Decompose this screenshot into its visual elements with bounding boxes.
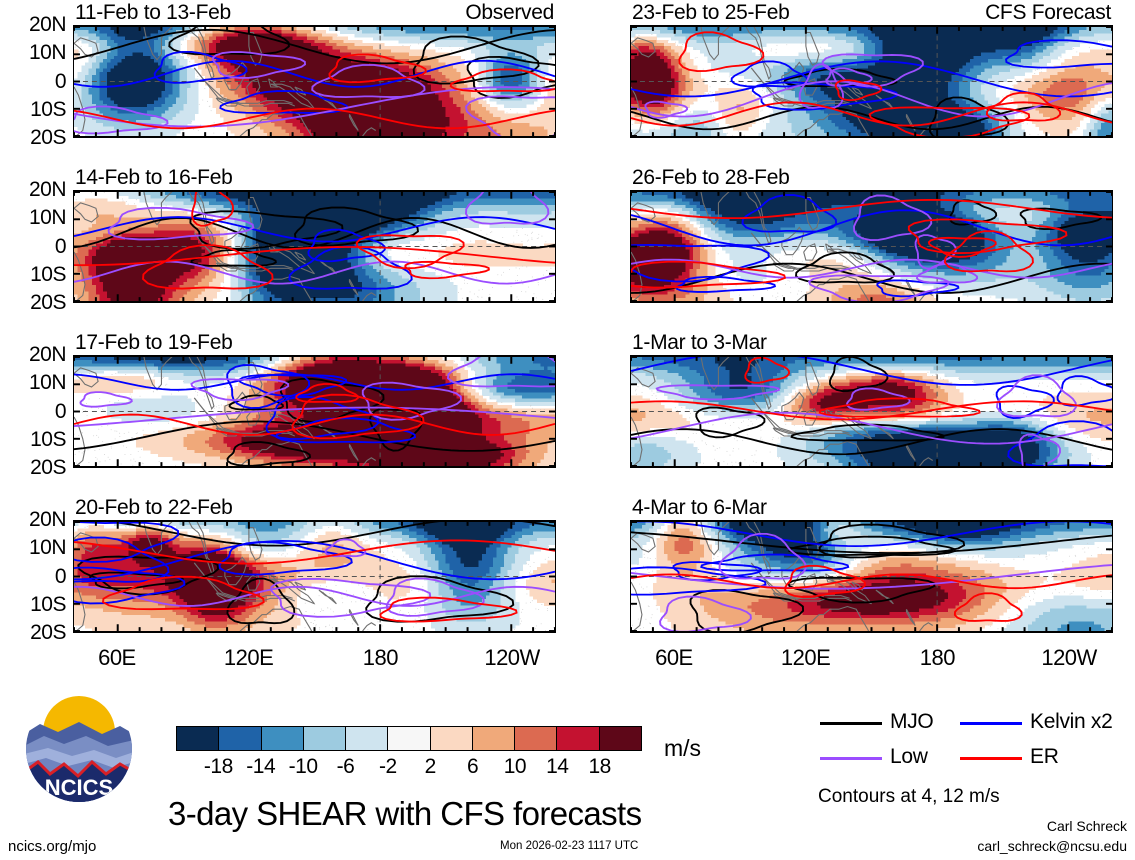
colorbar-swatch [600,727,641,750]
colorbar-tick: 18 [588,755,610,779]
x-axis-label: 180 [920,645,955,671]
logo-text: NCICS [45,775,113,800]
panel-title: 17-Feb to 19-Feb [75,331,232,355]
panel-title: 14-Feb to 16-Feb [75,166,232,190]
panel-title: 23-Feb to 25-Feb [632,1,789,25]
panel-title: 26-Feb to 28-Feb [632,166,789,190]
colorbar-tick: 6 [467,755,478,779]
y-axis-label: 10N [4,536,66,560]
plot-area [73,190,556,303]
y-axis-label: 10S [4,263,66,287]
legend-line-swatch [960,722,1022,725]
colorbar-swatches [176,726,642,751]
y-axis-label: 20S [4,456,66,480]
map-panel-forecast-2: 26-Feb to 28-Feb [630,190,1113,303]
contour-note: Contours at 4, 12 m/s [818,786,1000,808]
plot-area [73,520,556,633]
map-panel-observed-2: 14-Feb to 16-Feb20N10N010S20S [73,190,556,303]
ncics-logo: NCICS [24,694,134,804]
y-axis-label: 10S [4,428,66,452]
site-url: ncics.org/mjo [8,838,96,855]
map-panel-observed-3: 17-Feb to 19-Feb20N10N010S20S [73,355,556,468]
plot-area [630,520,1113,633]
plot-area [630,25,1113,138]
x-axis-label: 60E [98,645,136,671]
y-axis-label: 0 [4,400,66,424]
colorbar-tick: -2 [379,755,397,779]
x-axis-label: 60E [655,645,693,671]
x-axis-label: 180 [363,645,398,671]
colorbar-swatch [346,727,388,750]
legend-line-swatch [960,757,1022,760]
colorbar-tick: -14 [246,755,275,779]
panel-title: 11-Feb to 13-Feb [75,1,231,25]
legend-line-swatch [820,757,882,760]
colorbar-swatch [388,727,430,750]
y-axis-label: 10N [4,206,66,230]
x-axis-label: 120E [224,645,273,671]
y-axis-label: 10S [4,593,66,617]
y-axis-label: 20S [4,621,66,645]
y-axis-label: 20S [4,126,66,150]
colorbar-swatch [262,727,304,750]
x-axis-label: 120W [484,645,539,671]
y-axis-label: 10N [4,41,66,65]
plot-area [630,190,1113,303]
y-axis-label: 20N [4,178,66,202]
legend-label: MJO [890,710,933,734]
colorbar-swatch [304,727,346,750]
plot-area [73,355,556,468]
timestamp: Mon 2026-02-23 1117 UTC [500,840,638,852]
y-axis-label: 20S [4,291,66,315]
map-panel-forecast-3: 1-Mar to 3-Mar [630,355,1113,468]
map-panel-observed-1: 11-Feb to 13-FebObserved20N10N010S20S [73,25,556,138]
colorbar-tick: -18 [204,755,233,779]
map-panel-forecast-1: 23-Feb to 25-FebCFS Forecast [630,25,1113,138]
colorbar-swatch [515,727,557,750]
colorbar-swatch [473,727,515,750]
y-axis-label: 20N [4,13,66,37]
page-title: 3-day SHEAR with CFS forecasts [168,795,642,833]
x-axis-label: 120E [781,645,830,671]
legend-label: Low [890,745,928,769]
colorbar-tick: -10 [289,755,318,779]
plot-area [73,25,556,138]
colorbar-swatch [219,727,261,750]
y-axis-label: 10S [4,98,66,122]
colorbar: -18-14-10-6-226101418 [176,726,642,751]
colorbar-tick: 10 [504,755,526,779]
y-axis-label: 10N [4,371,66,395]
author-name: Carl Schreck [1047,818,1127,834]
legend-label: ER [1030,745,1059,769]
panel-title: 4-Mar to 6-Mar [632,496,767,520]
author-email: carl_schreck@ncsu.edu [977,838,1127,854]
y-axis-label: 0 [4,70,66,94]
colorbar-swatch [557,727,599,750]
plot-area [630,355,1113,468]
panel-title: 1-Mar to 3-Mar [632,331,767,355]
y-axis-label: 0 [4,565,66,589]
colorbar-tick: 14 [546,755,568,779]
colorbar-units-label: m/s [664,735,701,762]
colorbar-swatch [177,727,219,750]
map-panel-forecast-4: 4-Mar to 6-Mar60E120E180120W [630,520,1113,633]
legend-line-swatch [820,722,882,725]
column-heading: CFS Forecast [985,1,1111,25]
y-axis-label: 0 [4,235,66,259]
colorbar-tick: -6 [337,755,355,779]
y-axis-label: 20N [4,508,66,532]
x-axis-label: 120W [1041,645,1096,671]
colorbar-swatch [431,727,473,750]
legend-label: Kelvin x2 [1030,710,1113,734]
map-panel-observed-4: 20-Feb to 22-Feb20N10N010S20S60E120E1801… [73,520,556,633]
colorbar-tick: 2 [425,755,436,779]
column-heading: Observed [465,1,554,25]
panel-title: 20-Feb to 22-Feb [75,496,232,520]
y-axis-label: 20N [4,343,66,367]
